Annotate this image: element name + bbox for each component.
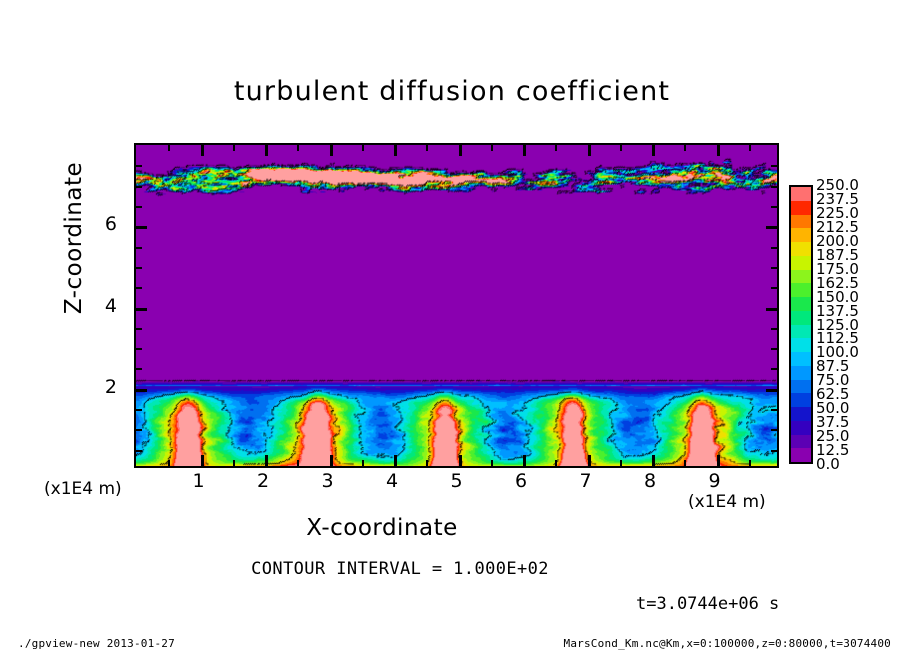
- axis-tick: [523, 145, 526, 156]
- y-axis-tick-label: 2: [87, 376, 117, 398]
- y-axis-tick-label: 4: [87, 295, 117, 317]
- axis-tick: [620, 460, 622, 466]
- axis-tick: [201, 145, 204, 156]
- colorbar-band: [791, 201, 811, 215]
- axis-tick: [771, 429, 777, 431]
- axis-tick: [394, 145, 397, 156]
- colorbar-band: [791, 256, 811, 270]
- axis-tick: [136, 226, 147, 229]
- colorbar-band: [791, 270, 811, 284]
- axis-tick: [362, 145, 364, 151]
- axis-tick: [771, 409, 777, 411]
- colorbar-band: [791, 325, 811, 339]
- axis-tick: [771, 450, 777, 452]
- colorbar-band: [791, 228, 811, 242]
- axis-tick: [717, 145, 720, 156]
- colorbar-band: [791, 393, 811, 407]
- colorbar-band: [791, 215, 811, 229]
- axis-tick: [136, 450, 142, 452]
- x-axis-tick-label: 5: [442, 470, 472, 492]
- footer-command-label: ./gpview-new 2013-01-27: [18, 637, 175, 650]
- colorbar-band: [791, 311, 811, 325]
- axis-tick: [717, 455, 720, 466]
- axis-tick: [362, 460, 364, 466]
- axis-tick: [588, 455, 591, 466]
- plot-area: [134, 143, 779, 468]
- x-axis-unit-left: (x1E4 m): [44, 479, 122, 499]
- axis-tick: [749, 145, 751, 151]
- axis-tick: [766, 226, 777, 229]
- axis-tick: [136, 389, 147, 392]
- axis-tick: [491, 460, 493, 466]
- axis-tick: [459, 455, 462, 466]
- axis-tick: [136, 429, 142, 431]
- axis-tick: [265, 455, 268, 466]
- axis-tick: [620, 145, 622, 151]
- axis-tick: [136, 409, 142, 411]
- colorbar-band: [791, 448, 811, 462]
- x-axis-tick-label: 8: [635, 470, 665, 492]
- colorbar-band: [791, 366, 811, 380]
- page-title: turbulent diffusion coefficient: [0, 76, 904, 107]
- axis-tick: [201, 455, 204, 466]
- axis-tick: [771, 348, 777, 350]
- axis-tick: [136, 186, 142, 188]
- axis-tick: [766, 389, 777, 392]
- axis-tick: [394, 455, 397, 466]
- axis-tick: [491, 145, 493, 151]
- axis-tick: [136, 165, 142, 167]
- colorbar: [789, 185, 813, 464]
- axis-tick: [684, 145, 686, 151]
- axis-tick: [766, 308, 777, 311]
- axis-tick: [168, 145, 170, 151]
- axis-tick: [136, 368, 142, 370]
- colorbar-tick-label: 0.0: [816, 457, 840, 472]
- axis-tick: [771, 287, 777, 289]
- axis-tick: [426, 460, 428, 466]
- axis-tick: [136, 328, 142, 330]
- colorbar-band: [791, 187, 811, 201]
- colorbar-band: [791, 242, 811, 256]
- x-axis-tick-label: 9: [700, 470, 730, 492]
- axis-tick: [136, 247, 142, 249]
- axis-tick: [168, 460, 170, 466]
- colorbar-band: [791, 380, 811, 394]
- axis-tick: [136, 267, 142, 269]
- axis-tick: [771, 165, 777, 167]
- axis-tick: [426, 145, 428, 151]
- axis-tick: [684, 460, 686, 466]
- colorbar-band: [791, 352, 811, 366]
- colorbar-tick-labels: 250.0237.5225.0212.5200.0187.5175.0162.5…: [816, 180, 886, 470]
- axis-tick: [297, 460, 299, 466]
- contour-field-canvas: [136, 145, 777, 466]
- axis-tick: [749, 460, 751, 466]
- axis-tick: [588, 145, 591, 156]
- x-axis-tick-label: 7: [571, 470, 601, 492]
- colorbar-band: [791, 283, 811, 297]
- axis-tick: [523, 455, 526, 466]
- axis-tick: [771, 186, 777, 188]
- colorbar-band: [791, 338, 811, 352]
- axis-tick: [233, 145, 235, 151]
- footer-source-label: MarsCond_Km.nc@Km,x=0:100000,z=0:80000,t…: [564, 637, 891, 650]
- axis-tick: [555, 460, 557, 466]
- axis-tick: [771, 247, 777, 249]
- axis-tick: [555, 145, 557, 151]
- time-stamp-label: t=3.0744e+06 s: [636, 594, 779, 614]
- axis-tick: [297, 145, 299, 151]
- x-axis-tick-label: 4: [377, 470, 407, 492]
- axis-tick: [652, 455, 655, 466]
- axis-tick: [136, 308, 147, 311]
- x-axis-tick-label: 2: [248, 470, 278, 492]
- x-axis-tick-label: 3: [313, 470, 343, 492]
- colorbar-band: [791, 435, 811, 449]
- contour-interval-label: CONTOUR INTERVAL = 1.000E+02: [0, 559, 800, 579]
- axis-tick: [771, 328, 777, 330]
- axis-tick: [459, 145, 462, 156]
- axis-tick: [771, 368, 777, 370]
- colorbar-band: [791, 421, 811, 435]
- axis-tick: [136, 287, 142, 289]
- x-axis-title: X-coordinate: [0, 515, 764, 541]
- axis-tick: [136, 206, 142, 208]
- axis-tick: [136, 348, 142, 350]
- axis-tick: [330, 145, 333, 156]
- x-axis-tick-label: 6: [506, 470, 536, 492]
- axis-tick: [652, 145, 655, 156]
- axis-tick: [330, 455, 333, 466]
- axis-tick: [771, 206, 777, 208]
- x-axis-unit-right: (x1E4 m): [688, 492, 766, 512]
- x-axis-tick-label: 1: [184, 470, 214, 492]
- y-axis-title: Z-coordinate: [61, 148, 87, 328]
- axis-tick: [233, 460, 235, 466]
- colorbar-band: [791, 297, 811, 311]
- axis-tick: [771, 267, 777, 269]
- axis-tick: [265, 145, 268, 156]
- colorbar-band: [791, 407, 811, 421]
- y-axis-tick-label: 6: [87, 213, 117, 235]
